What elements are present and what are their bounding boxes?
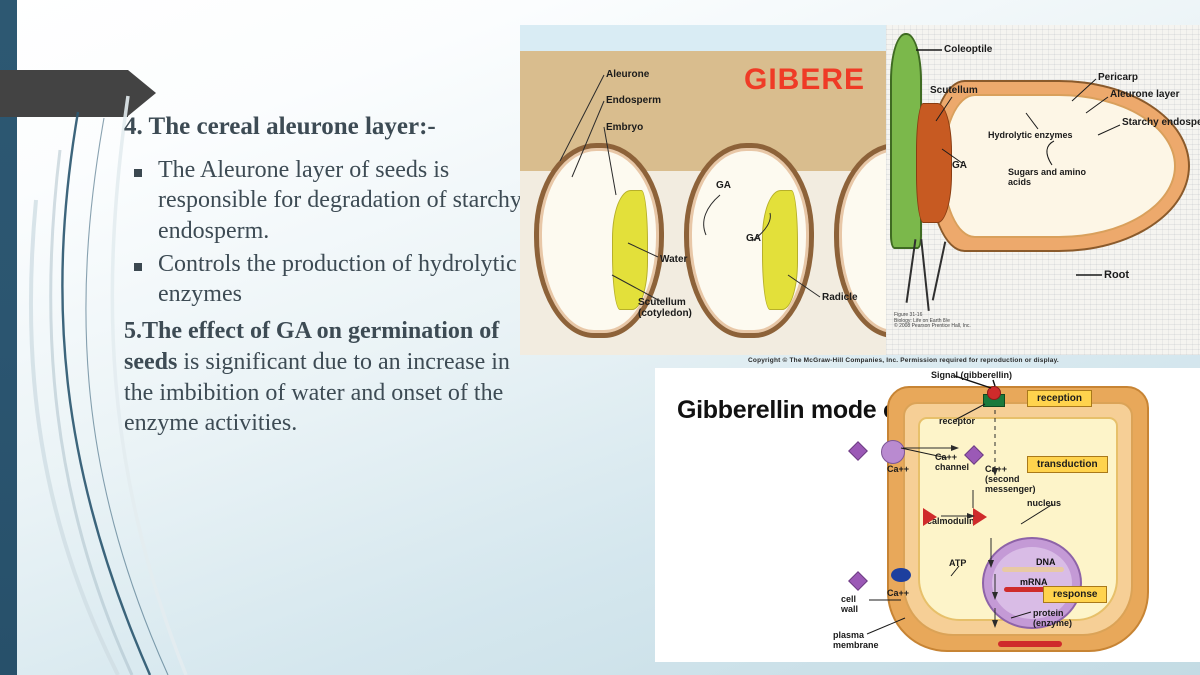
figure-leader-lines bbox=[520, 25, 886, 355]
page-title: 4. The cereal aleurone layer:- bbox=[124, 112, 524, 143]
copyright-note: Copyright © The McGraw-Hill Companies, I… bbox=[748, 357, 1200, 364]
square-bullet-icon bbox=[134, 169, 142, 177]
slide: 4. The cereal aleurone layer:- The Aleur… bbox=[0, 0, 1200, 675]
square-bullet-icon bbox=[134, 263, 142, 271]
paragraph-number: 5. bbox=[124, 318, 142, 344]
list-item-label: Controls the production of hydrolytic en… bbox=[158, 249, 524, 310]
body-text-column: 4. The cereal aleurone layer:- The Aleur… bbox=[124, 112, 524, 439]
figure-arrows bbox=[655, 368, 1200, 662]
list-item-label: The Aleurone layer of seeds is responsib… bbox=[158, 155, 524, 247]
list-item: Controls the production of hydrolytic en… bbox=[124, 249, 524, 310]
title-banner-shape bbox=[0, 70, 128, 117]
title-banner-arrow-tip bbox=[128, 70, 156, 116]
cereal-seed-ga-diagram: GIBERE Aleurone Endosperm Embryo GA GA W… bbox=[520, 25, 886, 355]
summary-paragraph: 5.The effect of GA on germination of see… bbox=[124, 316, 524, 439]
gibberellin-mode-of-action-diagram: Gibberellin mode of action Signal (gibbe… bbox=[655, 368, 1200, 662]
paragraph-rest-text: is significant due to an increase in the… bbox=[124, 349, 510, 436]
figure-leader-lines bbox=[886, 25, 1200, 355]
list-item: The Aleurone layer of seeds is responsib… bbox=[124, 155, 524, 247]
germinating-grain-diagram: Coleoptile Scutellum GA Hydrolytic enzym… bbox=[886, 25, 1200, 355]
